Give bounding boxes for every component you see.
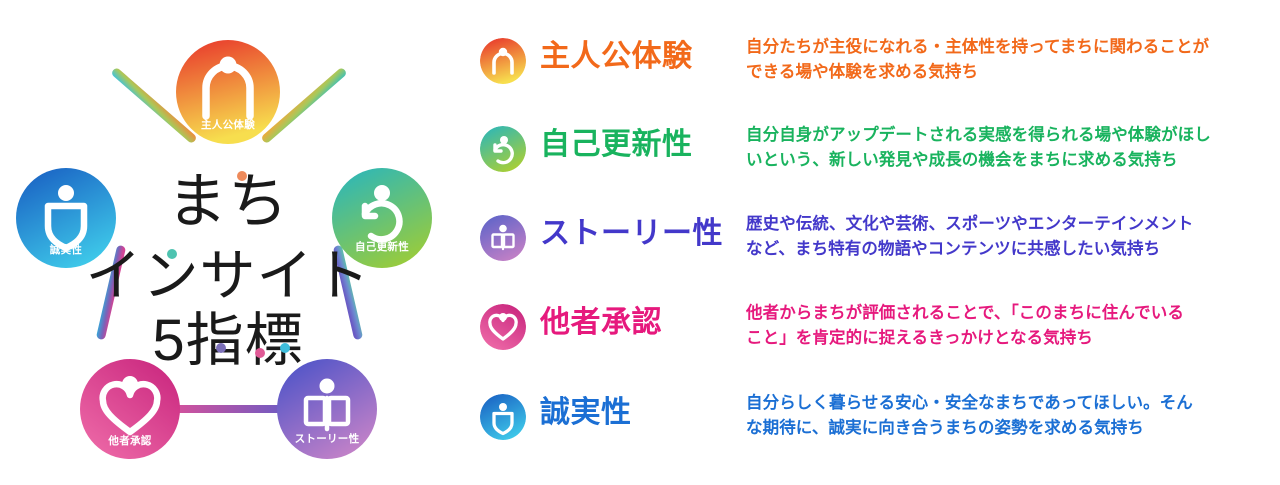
desc-line: できる場や体験を求める気持ち [746,60,1280,85]
list-item-description: 自分たちが主役になれる・主体性を持ってまちに関わることが できる場や体験を求める… [746,35,1280,85]
list-item-title: 主人公体験 [540,34,740,80]
center-line-2: インサイト [86,244,371,307]
list-item-description: 自分自身がアップデートされる実感を得られる場や体験がほし いという、新しい発見や… [746,123,1280,173]
desc-line: こと」を肯定的に捉えるきっかけとなる気持ち [746,326,1280,351]
list-item-title: 他者承認 [540,300,740,346]
list-item-title: 自己更新性 [540,122,740,168]
list-item[interactable]: 自己更新性 自分自身がアップデートされる実感を得られる場や体験がほし いという、… [480,122,1280,214]
desc-line: 歴史や伝統、文化や芸術、スポーツやエンターテインメント [746,212,1280,237]
edge-bottom [170,405,290,413]
center-line-3: 5指標 [152,308,303,373]
desc-line: な期待に、誠実に向き合うまちの姿勢を求める気持ち [746,416,1280,441]
list-item[interactable]: 主人公体験 自分たちが主役になれる・主体性を持ってまちに関わることが できる場や… [480,34,1280,126]
list-item[interactable]: 他者承認 他者からまちが評価されることで、「このまちに住んでいる こと」を肯定的… [480,300,1280,392]
center-dot-purple [216,343,226,353]
center-line-1: まち [167,168,289,235]
desc-line: 自分らしく暮らせる安心・安全なまちであってほしい。そん [746,391,1280,416]
refresh-person-icon [480,126,526,172]
center-dot-cyan [280,343,290,353]
book-icon [480,215,526,261]
pentagon-node-label: 主人公体験 [201,118,255,131]
pentagon-node-label: 他者承認 [107,434,151,447]
pentagon-diagram-svg: 主人公体験 自己更新性 ストーリー性 [0,0,460,485]
desc-line: 他者からまちが評価されることで、「このまちに住んでいる [746,301,1280,326]
indicator-list: 主人公体験 自分たちが主役になれる・主体性を持ってまちに関わることが できる場や… [480,0,1280,485]
list-item[interactable]: 誠実性 自分らしく暮らせる安心・安全なまちであってほしい。そん な期待に、誠実に… [480,390,1280,482]
pentagon-node-label: ストーリー性 [295,432,360,445]
list-item-description: 自分らしく暮らせる安心・安全なまちであってほしい。そん な期待に、誠実に向き合う… [746,391,1280,441]
list-item[interactable]: ストーリー性 歴史や伝統、文化や芸術、スポーツやエンターテインメント など、まち… [480,211,1280,303]
center-dot-pink [255,348,265,358]
pentagon-node-protagonist[interactable]: 主人公体験 [176,40,280,144]
list-item-description: 歴史や伝統、文化や芸術、スポーツやエンターテインメント など、まち特有の物語やコ… [746,212,1280,262]
list-item-title: ストーリー性 [540,211,740,257]
center-dot-orange [237,171,247,181]
heart-icon [480,304,526,350]
pentagon-node-recognition[interactable]: 他者承認 [80,359,180,459]
desc-line: 自分自身がアップデートされる実感を得られる場や体験がほし [746,123,1280,148]
pentagon-node-label: 誠実性 [50,243,83,256]
pentagon-diagram: 主人公体験 自己更新性 ストーリー性 [0,0,460,485]
shield-icon [480,394,526,440]
person-icon [480,38,526,84]
center-dot-teal [167,249,177,259]
infographic-root: 主人公体験 自己更新性 ストーリー性 [0,0,1280,485]
diagram-center-text: まち インサイト 5指標 [86,168,371,373]
list-item-title: 誠実性 [540,390,740,436]
pentagon-node-story[interactable]: ストーリー性 [277,359,377,459]
list-item-description: 他者からまちが評価されることで、「このまちに住んでいる こと」を肯定的に捉えるき… [746,301,1280,351]
desc-line: 自分たちが主役になれる・主体性を持ってまちに関わることが [746,35,1280,60]
desc-line: いという、新しい発見や成長の機会をまちに求める気持ち [746,148,1280,173]
desc-line: など、まち特有の物語やコンテンツに共感したい気持ち [746,237,1280,262]
